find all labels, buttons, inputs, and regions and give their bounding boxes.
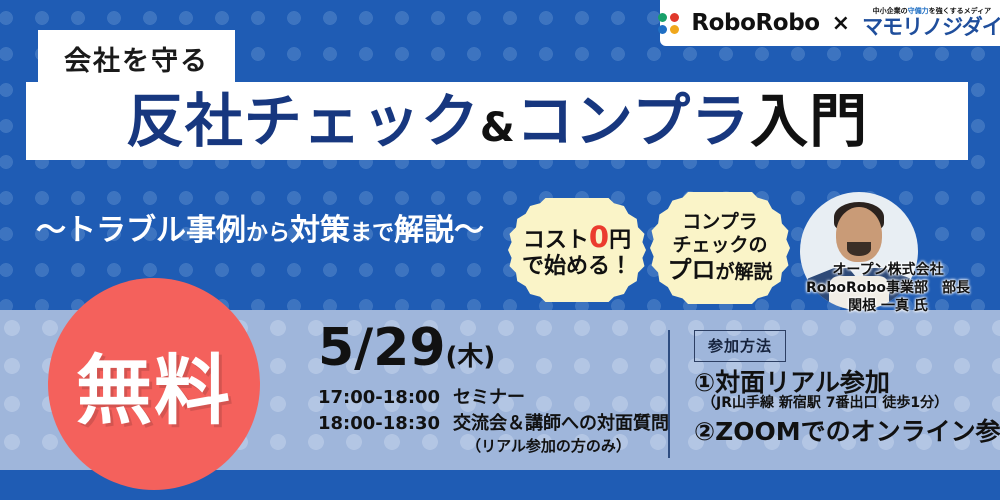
mamori-logo: 中小企業の守備力を強くするメディア マモリノジダイ	[862, 8, 1000, 38]
speaker-credentials: オープン株式会社 RoboRobo事業部 部長 関根 一真 氏	[780, 262, 996, 316]
join-method-label: 参加方法	[694, 330, 786, 362]
section-divider	[668, 330, 670, 458]
headline-ampersand: &	[480, 105, 516, 151]
pro-badge-line2: チェックの	[672, 234, 767, 256]
headline-segment-1: 反社チェック	[126, 87, 480, 155]
join-option-onsite-detail: （JR山手線 新宿駅 7番出口 徒歩1分）	[702, 392, 948, 412]
speaker-company: オープン株式会社	[780, 262, 996, 280]
schedule-label: セミナー	[453, 387, 525, 408]
webinar-banner: RoboRobo × 中小企業の守備力を強くするメディア マモリノジダイ 会社を…	[0, 0, 1000, 500]
schedule-row: 18:00-18:30交流会＆講師への対面質問	[318, 411, 669, 437]
speaker-department: RoboRobo事業部 部長	[780, 280, 996, 298]
subtitle: 〜トラブル事例から対策まで解説〜	[36, 205, 484, 249]
cost-badge-line1: コスト0円	[523, 220, 631, 254]
partner-logo-bar: RoboRobo × 中小企業の守備力を強くするメディア マモリノジダイ	[660, 0, 1000, 46]
schedule-note: （リアル参加の方のみ）	[318, 436, 669, 457]
free-price-label: 無料	[76, 329, 232, 439]
join-option-online: ②ZOOMでのオンライン参加	[694, 412, 1000, 448]
cross-icon: ×	[832, 11, 850, 36]
roborobo-dots-icon	[658, 13, 679, 34]
mamori-logo-text: マモリノジダイ	[862, 17, 1000, 38]
schedule-time: 17:00-18:00	[318, 385, 453, 411]
cost-badge-line2: で始める！	[522, 254, 632, 280]
event-day-of-week: (木)	[446, 342, 496, 372]
pro-badge: コンプラ チェックの プロが解説	[650, 192, 790, 304]
schedule-label: 交流会＆講師への対面質問	[453, 413, 669, 434]
mamori-tagline: 中小企業の守備力を強くするメディア	[873, 8, 992, 15]
headline-segment-3: 入門	[750, 87, 868, 155]
eyebrow-label: 会社を守る	[38, 30, 235, 89]
event-date: 5/29(木)	[318, 322, 495, 374]
free-price-badge: 無料	[48, 278, 260, 490]
event-date-number: 5/29	[318, 318, 446, 378]
schedule-row: 17:00-18:00セミナー	[318, 385, 669, 411]
page-title: 反社チェック&コンプラ入門	[126, 92, 868, 150]
schedule-time: 18:00-18:30	[318, 411, 453, 437]
headline-segment-2: コンプラ	[516, 87, 750, 155]
pro-badge-line3: プロが解説	[667, 256, 772, 284]
event-schedule: 17:00-18:00セミナー 18:00-18:30交流会＆講師への対面質問 …	[318, 385, 669, 457]
pro-badge-line1: コンプラ	[682, 211, 757, 233]
cost-badge: コスト0円 で始める！	[508, 198, 646, 302]
speaker-name: 関根 一真 氏	[780, 298, 996, 316]
headline-panel: 反社チェック&コンプラ入門	[26, 82, 968, 160]
roborobo-logo-text: RoboRobo	[691, 10, 819, 36]
